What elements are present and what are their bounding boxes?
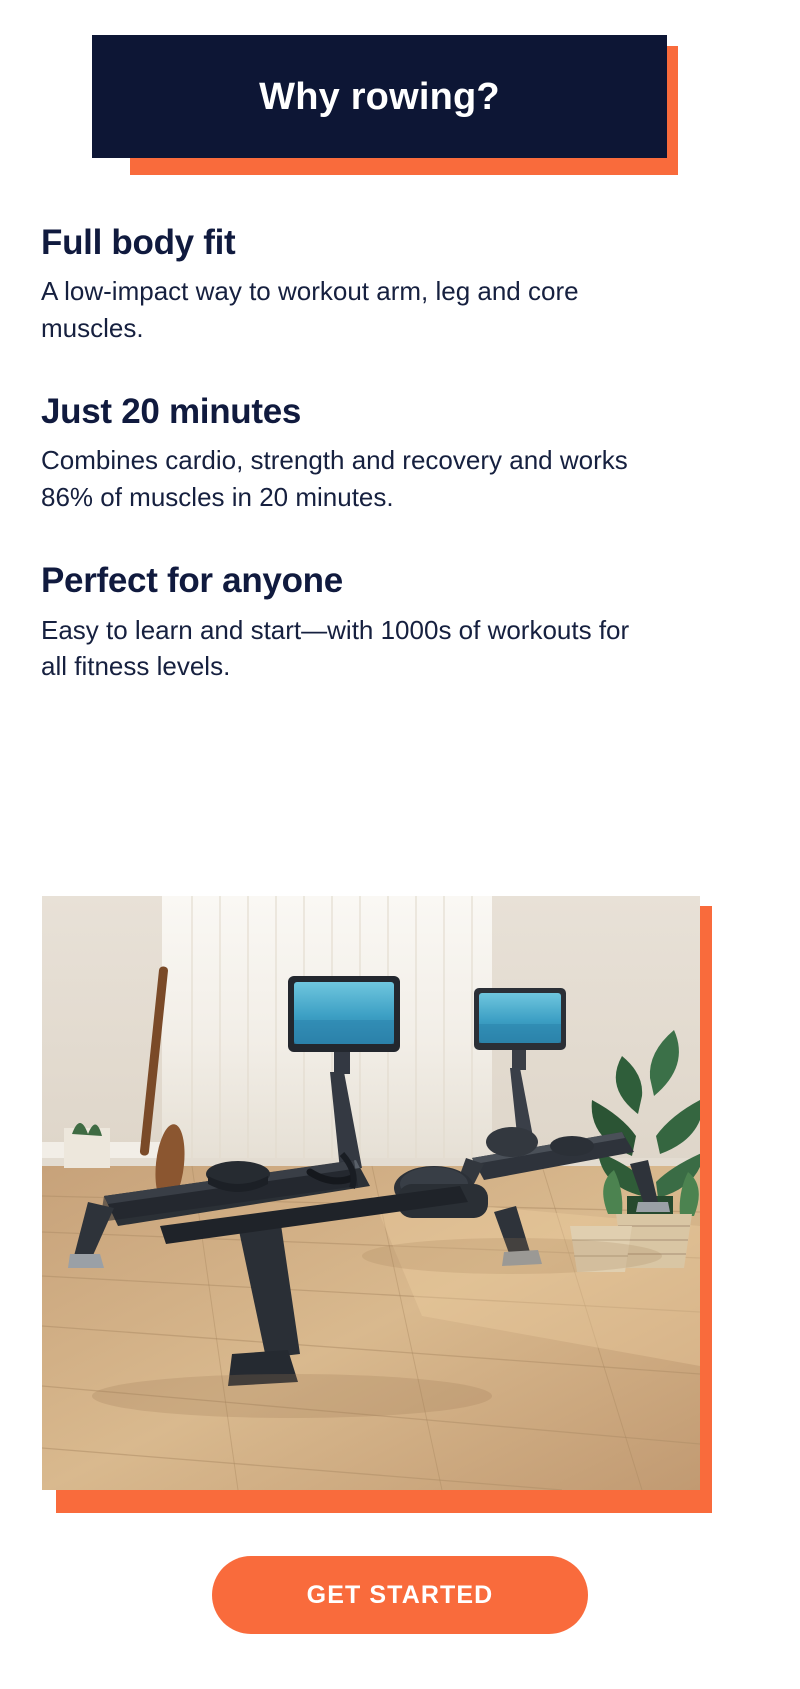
get-started-button[interactable]: GET STARTED [212,1556,588,1634]
feature-body: Combines cardio, strength and recovery a… [41,442,653,516]
feature-title: Full body fit [41,222,681,263]
feature-item-just-20-minutes: Just 20 minutes Combines cardio, strengt… [41,391,681,516]
feature-title: Just 20 minutes [41,391,681,432]
feature-body: A low-impact way to workout arm, leg and… [41,273,641,347]
header-banner-box: Why rowing? [92,35,667,158]
feature-list: Full body fit A low-impact way to workou… [41,222,681,685]
feature-item-full-body-fit: Full body fit A low-impact way to workou… [41,222,681,347]
feature-title: Perfect for anyone [41,560,681,601]
cta-container: GET STARTED [0,1556,800,1634]
feature-item-perfect-for-anyone: Perfect for anyone Easy to learn and sta… [41,560,681,685]
product-photo-frame [42,896,712,1516]
feature-body: Easy to learn and start—with 1000s of wo… [41,612,653,686]
page-title: Why rowing? [259,78,500,116]
product-photo [42,896,700,1490]
header-banner: Why rowing? [92,35,678,175]
